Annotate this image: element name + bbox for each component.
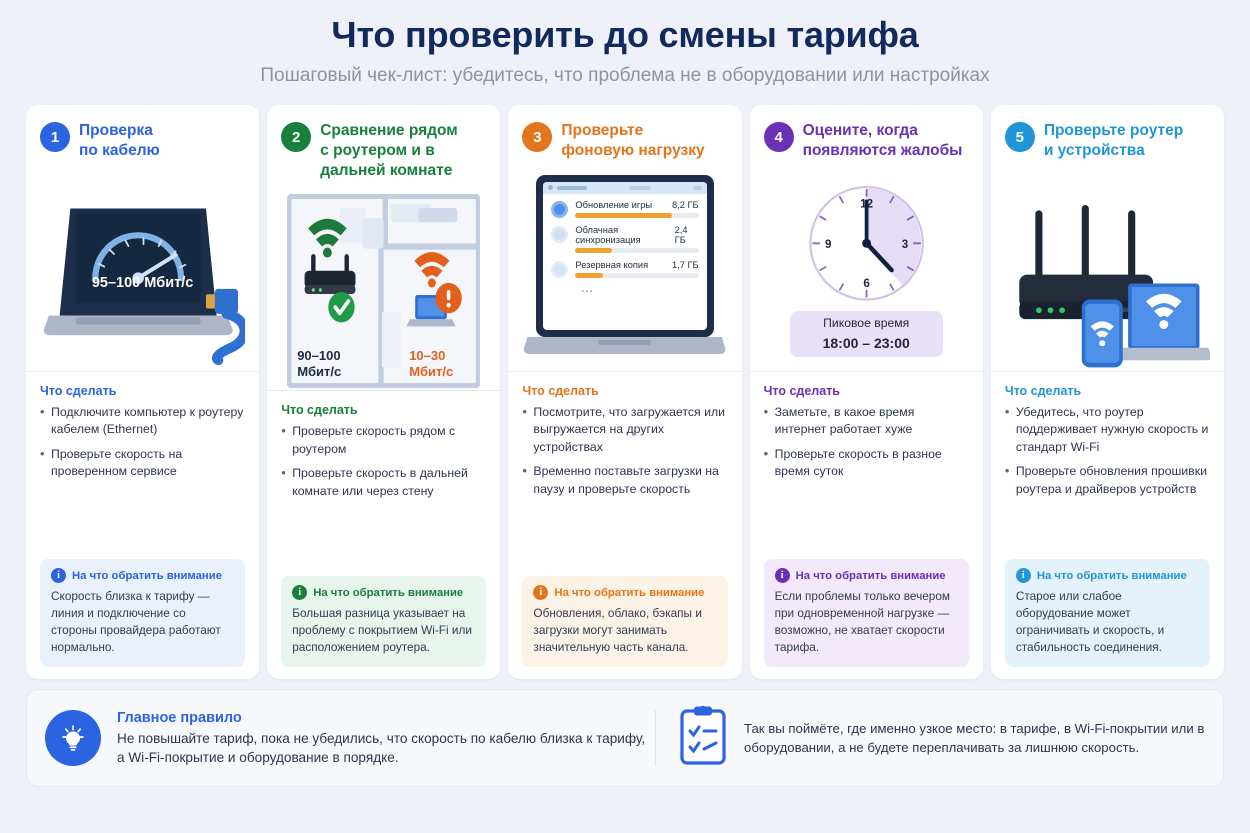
router-devices-illustration [1005,171,1210,371]
card-title: Проверьтефоновую нагрузку [561,121,704,160]
todo-item: Временно поставьте загрузки на паузу и п… [522,463,727,498]
todo-list: Заметьте, в какое время интернет работае… [764,404,969,488]
step-number-badge: 1 [40,122,70,152]
download-size: 2,4 ГБ [675,225,699,245]
card-illustration [1005,171,1210,371]
note-text: Скорость близка к тарифу — линия и подкл… [51,588,234,656]
todo-item: Заметьте, в какое время интернет работае… [764,404,969,439]
download-progress-track [575,273,698,278]
todo-heading: Что сделать [1005,384,1210,398]
svg-text:9: 9 [825,239,832,251]
todo-item: Проверьте обновления прошивки роутера и … [1005,463,1210,498]
todo-list: Убедитесь, что роутер поддерживает нужну… [1005,404,1210,505]
todo-item: Посмотрите, что загружается или выгружае… [522,404,727,456]
download-size: 8,2 ГБ [672,200,699,210]
todo-item: Подключите компьютер к роутеру кабелем (… [40,404,245,439]
footer-rule-text-block: Главное правило Не повышайте тариф, пока… [117,710,655,768]
card-header: 4 Оцените, когдапоявляются жалобы [750,105,983,370]
laptop-illustration: 95–100 Мбит/с [40,171,245,371]
lightbulb-icon [45,710,101,766]
step-number-badge: 3 [522,122,552,152]
info-icon: i [775,568,790,583]
steps-row: 1 Проверкапо кабелю [26,105,1224,679]
card-header: 2 Сравнение рядомс роутером и вдальней к… [267,105,500,390]
download-item-icon [551,226,568,243]
peak-time-title: Пиковое время [800,316,933,332]
download-row: Резервная копия 1,7 ГБ [551,260,698,278]
download-more-ellipsis: ... [551,283,698,295]
laptop-device [1115,283,1210,360]
card-header: 1 Проверкапо кабелю [26,105,259,370]
footer-rule-text: Не повышайте тариф, пока не убедились, ч… [117,729,655,768]
card-title: Проверкапо кабелю [79,121,160,160]
page-subtitle: Пошаговый чек-лист: убедитесь, что пробл… [26,65,1224,87]
note-heading: На что обратить внимание [554,587,704,599]
footer-summary: Главное правило Не повышайте тариф, пока… [26,689,1224,787]
footer-note-text: Так вы поймёте, где именно узкое место: … [744,719,1205,758]
download-row: Обновление игры 8,2 ГБ [551,200,698,218]
todo-item: Проверьте скорость в разное время суток [764,446,969,481]
page-title: Что проверить до смены тарифа [26,14,1224,55]
footer-main-rule: Главное правило Не повышайте тариф, пока… [45,710,655,768]
download-item-icon [551,201,568,218]
todo-list: Проверьте скорость рядом с роутеромПрове… [281,423,486,507]
card-illustration: 12 3 6 9 Пиковое время 18:00 – 23:00 [764,171,969,371]
card-title: Сравнение рядомс роутером и вдальней ком… [320,121,458,180]
speed-label: 95–100 Мбит/с [40,275,245,291]
todo-list: Посмотрите, что загружается или выгружае… [522,404,727,505]
step-card-2: 2 Сравнение рядомс роутером и вдальней к… [267,105,500,679]
info-icon: i [292,585,307,600]
todo-item: Проверьте скорость рядом с роутером [281,423,486,458]
todo-heading: Что сделать [40,384,245,398]
download-progress-fill [575,273,602,278]
download-size: 1,7 ГБ [672,260,699,270]
card-header: 3 Проверьтефоновую нагрузку [508,105,741,370]
note-heading: На что обратить внимание [796,570,946,582]
info-icon: i [51,568,66,583]
step-number-badge: 4 [764,122,794,152]
note-text: Если проблемы только вечером при одновре… [775,588,958,656]
note-heading: На что обратить внимание [72,570,222,582]
footer-conclusion: Так вы поймёте, где именно узкое место: … [655,710,1205,766]
near-speed-label: 90–100Мбит/с [297,348,341,381]
svg-text:6: 6 [863,278,870,290]
todo-item: Проверьте скорость в дальней комнате или… [281,465,486,500]
step-number-badge: 2 [281,122,311,152]
card-body: Что сделать Посмотрите, что загружается … [508,372,741,576]
step-card-1: 1 Проверкапо кабелю [26,105,259,679]
download-progress-track [575,248,698,253]
card-illustration: 90–100Мбит/с 10–30Мбит/с [281,190,486,390]
download-item-icon [551,261,568,278]
card-header: 5 Проверьте роутери устройства [991,105,1224,370]
step-card-4: 4 Оцените, когдапоявляются жалобы [750,105,983,679]
peak-time-pill: Пиковое время 18:00 – 23:00 [790,311,943,357]
floorplan-illustration: 90–100Мбит/с 10–30Мбит/с [287,194,480,388]
page-header: Что проверить до смены тарифа Пошаговый … [26,0,1224,87]
download-progress-fill [575,248,612,253]
attention-note: i На что обратить внимание Скорость близ… [40,559,245,667]
download-name: Обновление игры [575,200,652,210]
note-text: Старое или слабое оборудование может огр… [1016,588,1199,656]
todo-list: Подключите компьютер к роутеру кабелем (… [40,404,245,488]
card-illustration: Обновление игры 8,2 ГБ Облачная синхрони… [522,171,727,371]
download-name: Резервная копия [575,260,648,270]
note-heading: На что обратить внимание [313,587,463,599]
laptop-downloads-illustration: Обновление игры 8,2 ГБ Облачная синхрони… [522,171,727,371]
card-body: Что сделать Заметьте, в какое время инте… [750,372,983,559]
note-heading: На что обратить внимание [1037,570,1187,582]
download-row: Облачная синхронизация 2,4 ГБ [551,225,698,253]
info-icon: i [533,585,548,600]
todo-heading: Что сделать [281,403,486,417]
attention-note: i На что обратить внимание Большая разни… [281,576,486,667]
peak-time-range: 18:00 – 23:00 [800,334,933,352]
step-card-5: 5 Проверьте роутери устройства [991,105,1224,679]
svg-text:3: 3 [901,239,908,251]
infographic-page: Что проверить до смены тарифа Пошаговый … [0,0,1250,833]
step-number-badge: 5 [1005,122,1035,152]
todo-heading: Что сделать [764,384,969,398]
note-text: Обновления, облако, бэкапы и загрузки мо… [533,605,716,656]
todo-item: Проверьте скорость на проверенном сервис… [40,446,245,481]
todo-heading: Что сделать [522,384,727,398]
download-progress-fill [575,213,671,218]
attention-note: i На что обратить внимание Обновления, о… [522,576,727,667]
card-body: Что сделать Подключите компьютер к роуте… [26,372,259,559]
card-body: Что сделать Убедитесь, что роутер поддер… [991,372,1224,559]
attention-note: i На что обратить внимание Если проблемы… [764,559,969,667]
download-progress-track [575,213,698,218]
card-title: Проверьте роутери устройства [1044,121,1183,160]
card-body: Что сделать Проверьте скорость рядом с р… [267,391,500,576]
phone-device [1082,299,1123,367]
attention-note: i На что обратить внимание Старое или сл… [1005,559,1210,667]
clipboard-checklist-icon [678,705,728,772]
card-illustration: 95–100 Мбит/с [40,171,245,371]
far-speed-label: 10–30Мбит/с [409,348,453,381]
step-card-3: 3 Проверьтефоновую нагрузку [508,105,741,679]
download-name: Облачная синхронизация [575,225,674,245]
clock-illustration: 12 3 6 9 Пиковое время 18:00 – 23:00 [764,171,969,371]
footer-rule-title: Главное правило [117,710,655,726]
note-text: Большая разница указывает на проблему с … [292,605,475,656]
info-icon: i [1016,568,1031,583]
card-title: Оцените, когдапоявляются жалобы [803,121,963,160]
todo-item: Убедитесь, что роутер поддерживает нужну… [1005,404,1210,456]
